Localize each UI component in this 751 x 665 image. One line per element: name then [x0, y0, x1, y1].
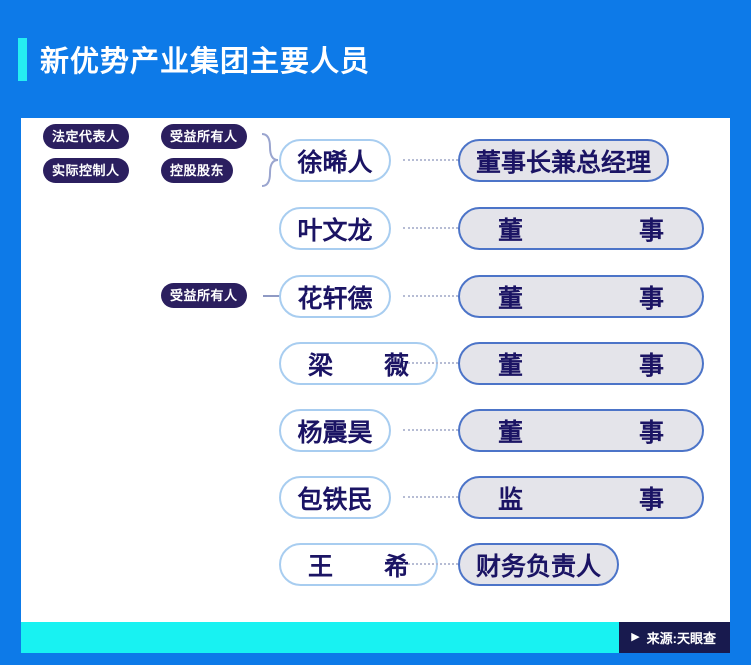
person-position-pill[interactable]: 董 事 [458, 342, 704, 385]
list-item: 受益所有人 花轩德 董 事 [21, 270, 730, 322]
dotted-connector-icon [403, 496, 458, 498]
person-name-pill[interactable]: 花轩德 [279, 275, 391, 318]
person-name-pill[interactable]: 叶文龙 [279, 207, 391, 250]
dotted-connector-icon [403, 429, 458, 431]
list-item: 梁 薇 董 事 [21, 337, 730, 389]
infographic-page: { "header": { "title": "新优势产业集团主要人员", "a… [0, 0, 751, 665]
tag-beneficial-owner[interactable]: 受益所有人 [161, 283, 247, 308]
tag-cluster: 受益所有人 [21, 270, 261, 322]
list-item: 包铁民 监 事 [21, 471, 730, 523]
list-item: 叶文龙 董 事 [21, 202, 730, 254]
person-name-pill[interactable]: 杨震昊 [279, 409, 391, 452]
tag-cluster: 法定代表人 受益所有人 实际控制人 控股股东 [21, 134, 261, 186]
person-position-pill[interactable]: 董 事 [458, 275, 704, 318]
list-item: 法定代表人 受益所有人 实际控制人 控股股东 徐晞人 董事长兼总经理 [21, 134, 730, 186]
tag-beneficial-owner[interactable]: 受益所有人 [161, 124, 247, 149]
bracket-connector-icon [261, 131, 279, 189]
person-position-pill[interactable]: 董 事 [458, 409, 704, 452]
page-header: 新优势产业集团主要人员 [0, 0, 751, 118]
person-position-pill[interactable]: 监 事 [458, 476, 704, 519]
tag-controlling-shareholder[interactable]: 控股股东 [161, 158, 233, 183]
title-accent-bar [18, 38, 27, 81]
tag-legal-representative[interactable]: 法定代表人 [43, 124, 129, 149]
person-position-pill[interactable]: 董事长兼总经理 [458, 139, 669, 182]
diagram-card: 法定代表人 受益所有人 实际控制人 控股股东 徐晞人 董事长兼总经理 叶文龙 董… [21, 118, 730, 622]
dotted-connector-icon [403, 159, 458, 161]
dotted-connector-icon [403, 295, 458, 297]
list-item: 杨震昊 董 事 [21, 404, 730, 456]
source-label: 来源:天眼查 [647, 628, 716, 647]
tag-actual-controller[interactable]: 实际控制人 [43, 158, 129, 183]
person-position-pill[interactable]: 董 事 [458, 207, 704, 250]
list-item: 王 希 财务负责人 [21, 538, 730, 590]
play-triangle-icon: ▶ [631, 632, 639, 643]
page-title: 新优势产业集团主要人员 [40, 38, 370, 80]
dotted-connector-icon [403, 362, 458, 364]
source-badge: ▶ 来源:天眼查 [619, 622, 730, 653]
dotted-connector-icon [403, 227, 458, 229]
dotted-connector-icon [403, 563, 458, 565]
person-name-pill[interactable]: 包铁民 [279, 476, 391, 519]
person-name-pill[interactable]: 徐晞人 [279, 139, 391, 182]
person-position-pill[interactable]: 财务负责人 [458, 543, 619, 586]
people-list: 法定代表人 受益所有人 实际控制人 控股股东 徐晞人 董事长兼总经理 叶文龙 董… [21, 118, 730, 622]
